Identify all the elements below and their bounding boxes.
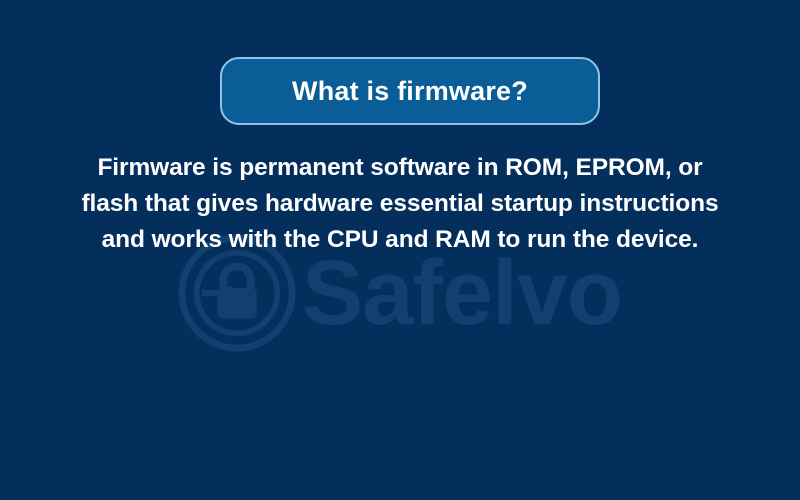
page-title: What is firmware? [292, 76, 528, 107]
illustration-row: ROM [0, 290, 800, 440]
title-banner: What is firmware? [220, 57, 600, 125]
body-copy: Firmware is permanent software in ROM, E… [40, 150, 760, 258]
body-line-3: and works with the CPU and RAM to run th… [40, 222, 760, 258]
slide-canvas: Safelvo What is firmware? Firmware is pe… [0, 0, 800, 500]
body-line-2: flash that gives hardware essential star… [40, 186, 760, 222]
body-line-1: Firmware is permanent software in ROM, E… [40, 150, 760, 186]
